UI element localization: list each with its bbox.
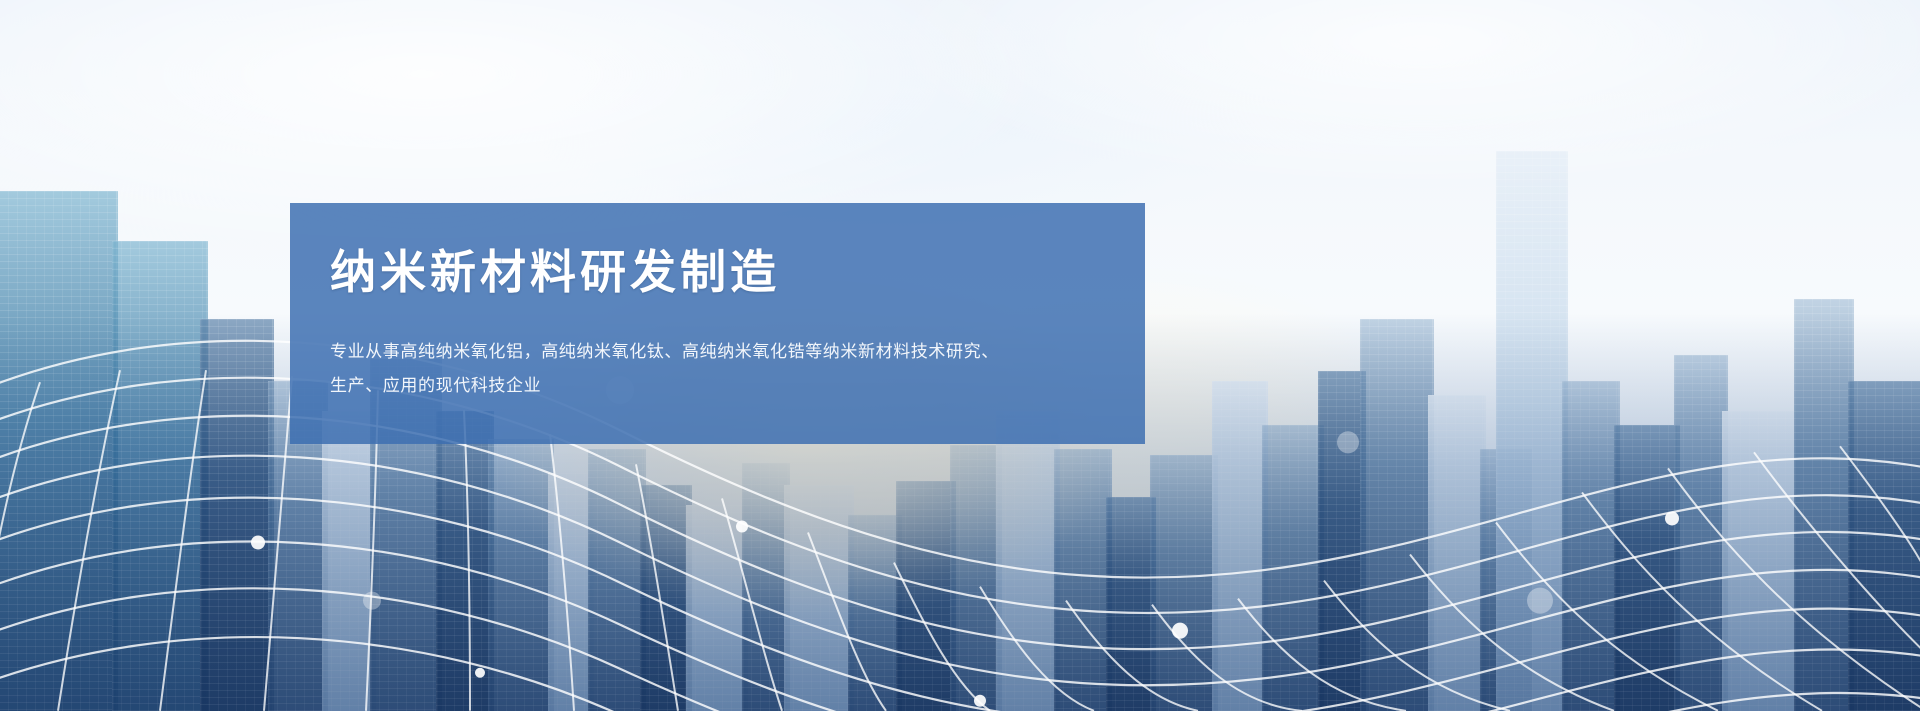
hero-text-panel: 纳米新材料研发制造 专业从事高纯纳米氧化铝，高纯纳米氧化钛、高纯纳米氧化锆等纳米… xyxy=(290,203,1145,444)
hero-subtitle: 专业从事高纯纳米氧化铝，高纯纳米氧化钛、高纯纳米氧化锆等纳米新材料技术研究、 生… xyxy=(330,335,1093,405)
hero-subtitle-line-2: 生产、应用的现代科技企业 xyxy=(330,369,1093,404)
hero-banner: 纳米新材料研发制造 专业从事高纯纳米氧化铝，高纯纳米氧化钛、高纯纳米氧化锆等纳米… xyxy=(0,0,1920,711)
page-title: 纳米新材料研发制造 xyxy=(330,247,1093,299)
hero-subtitle-line-1: 专业从事高纯纳米氧化铝，高纯纳米氧化钛、高纯纳米氧化锆等纳米新材料技术研究、 xyxy=(330,335,1093,370)
